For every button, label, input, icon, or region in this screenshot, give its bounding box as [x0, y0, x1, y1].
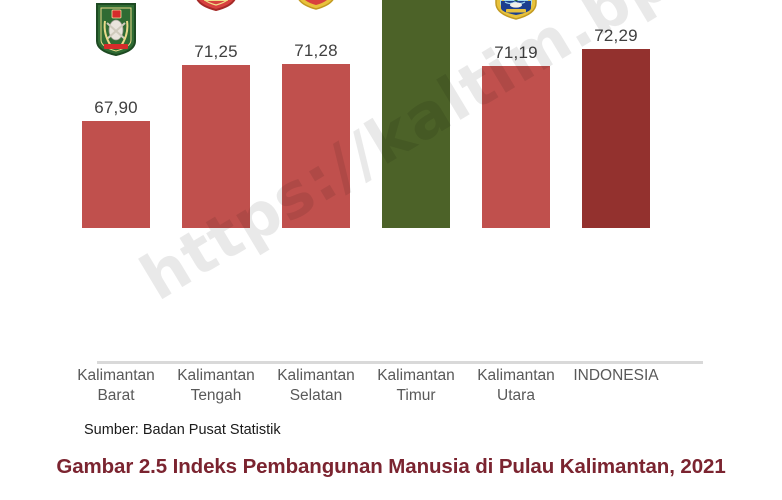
value-label-indonesia: 72,29	[566, 26, 666, 46]
lambang-kalimantan-tengah-icon	[192, 0, 240, 17]
category-label-line1: Kalimantan	[164, 366, 268, 386]
category-label-line1: Kalimantan	[64, 366, 168, 386]
bar-kalimantan-tengah[interactable]	[182, 65, 250, 228]
category-label-line2: Tengah	[164, 386, 268, 406]
plot-area: 67,90 71,25	[0, 0, 782, 366]
category-label-kalimantan-barat: Kalimantan Barat	[64, 366, 168, 406]
value-label-kalimantan-barat: 67,90	[66, 98, 166, 118]
category-label-kalimantan-timur: Kalimantan Timur	[364, 366, 468, 406]
value-label-kalimantan-selatan: 71,28	[266, 41, 366, 61]
source-note: Sumber: Badan Pusat Statistik	[84, 422, 281, 438]
bar-kalimantan-barat[interactable]	[82, 121, 150, 228]
lambang-kalimantan-utara-icon	[492, 0, 540, 26]
bar-kalimantan-timur[interactable]	[382, 0, 450, 228]
category-label-kalimantan-utara: Kalimantan Utara	[464, 366, 568, 406]
chart-page: https://kaltim.bps.go.id 67,90	[0, 0, 782, 500]
category-label-kalimantan-selatan: Kalimantan Selatan	[264, 366, 368, 406]
bar-kalimantan-selatan[interactable]	[282, 64, 350, 228]
category-label-kalimantan-tengah: Kalimantan Tengah	[164, 366, 268, 406]
axis-baseline	[97, 361, 703, 364]
category-label-line1: Kalimantan	[264, 366, 368, 386]
category-label-line1: INDONESIA	[564, 366, 668, 386]
category-label-line1: Kalimantan	[364, 366, 468, 386]
bendera-indonesia-icon	[554, 0, 678, 4]
lambang-kalimantan-barat-icon	[93, 1, 139, 62]
bar-indonesia[interactable]	[582, 49, 650, 228]
bar-kalimantan-utara[interactable]	[482, 66, 550, 228]
category-label-line2: Timur	[364, 386, 468, 406]
category-axis-labels: Kalimantan Barat Kalimantan Tengah Kalim…	[0, 366, 782, 414]
category-label-line1: Kalimantan	[464, 366, 568, 386]
category-label-indonesia: INDONESIA	[564, 366, 668, 386]
category-label-line2: Utara	[464, 386, 568, 406]
value-label-kalimantan-tengah: 71,25	[166, 42, 266, 62]
lambang-kalimantan-selatan-icon	[293, 0, 339, 16]
value-label-kalimantan-utara: 71,19	[466, 43, 566, 63]
category-label-line2: Selatan	[264, 386, 368, 406]
figure-caption: Gambar 2.5 Indeks Pembangunan Manusia di…	[0, 455, 782, 479]
category-label-line2: Barat	[64, 386, 168, 406]
